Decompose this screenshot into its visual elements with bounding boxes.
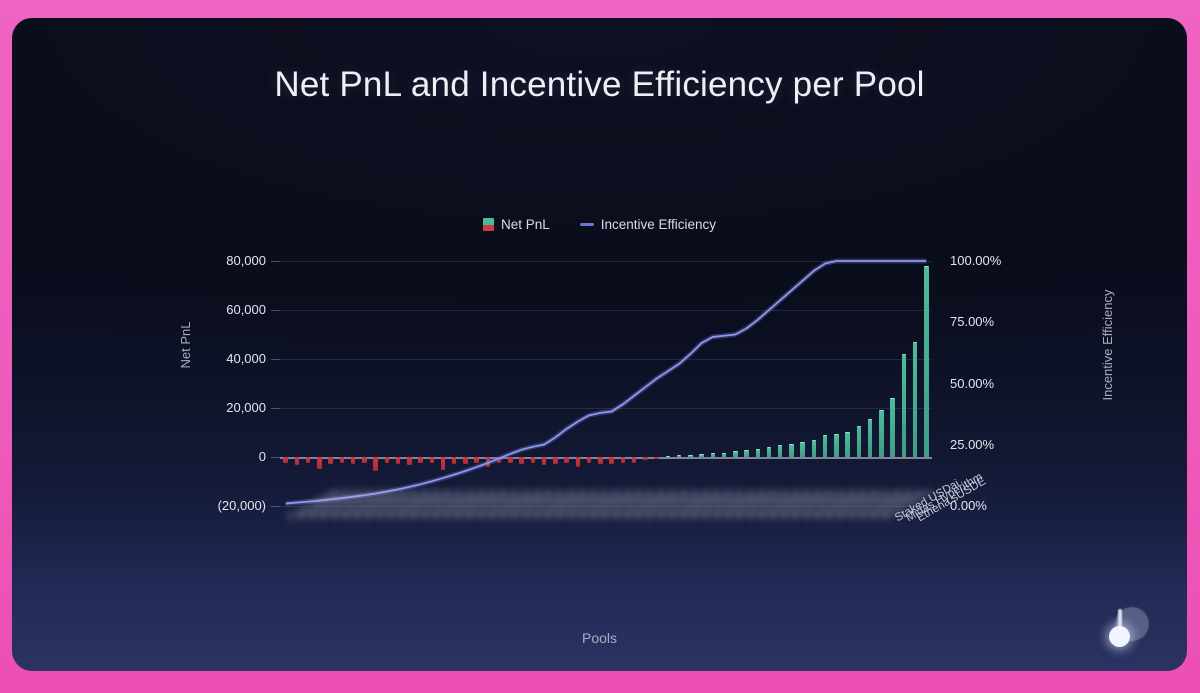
- page-title: Net PnL and Incentive Efficiency per Poo…: [12, 65, 1187, 105]
- mouse-cursor-highlight: [1105, 605, 1149, 649]
- plot-area: 80,00060,00040,00020,0000(20,000) 100.00…: [280, 261, 932, 506]
- y-axis-right-tick-label: 50.00%: [950, 377, 994, 390]
- line-series-incentive-efficiency: [280, 261, 932, 506]
- y-axis-right-tick-label: 25.00%: [950, 438, 994, 451]
- y-axis-right-tick-label: 75.00%: [950, 315, 994, 328]
- x-axis-title: Pools: [12, 630, 1187, 646]
- legend-swatch-net-pnl: [483, 218, 494, 231]
- slide-frame: Net PnL and Incentive Efficiency per Poo…: [0, 0, 1200, 693]
- legend-label-net-pnl: Net PnL: [501, 217, 550, 232]
- chart-legend: Net PnL Incentive Efficiency: [12, 217, 1187, 232]
- y-axis-left-tickmark: [271, 408, 280, 409]
- legend-label-incentive-efficiency: Incentive Efficiency: [601, 217, 716, 232]
- y-axis-left-title: Net PnL: [178, 321, 193, 368]
- y-axis-left-tick-label: 80,000: [226, 254, 266, 267]
- y-axis-right-title: Incentive Efficiency: [1100, 289, 1115, 400]
- y-axis-left-tickmark: [271, 506, 280, 507]
- y-axis-left-tick-label: 40,000: [226, 352, 266, 365]
- y-axis-left-tick-label: 20,000: [226, 401, 266, 414]
- y-axis-right-tick-label: 100.00%: [950, 254, 1001, 267]
- chart-panel: Net PnL and Incentive Efficiency per Poo…: [12, 18, 1187, 671]
- incentive-efficiency-line[interactable]: [286, 261, 927, 504]
- cursor-dot: [1109, 626, 1130, 647]
- line-glow: [286, 261, 927, 504]
- x-axis-labels: Pool NamePool NamePool NamePool NamePool…: [280, 508, 932, 603]
- legend-item-net-pnl[interactable]: Net PnL: [483, 217, 550, 232]
- y-axis-left-tickmark: [271, 310, 280, 311]
- y-axis-left-tickmark: [271, 359, 280, 360]
- y-axis-left-tick-label: 0: [259, 450, 266, 463]
- y-axis-left-tick-label: (20,000): [218, 499, 266, 512]
- legend-swatch-incentive-efficiency: [580, 223, 594, 226]
- legend-item-incentive-efficiency[interactable]: Incentive Efficiency: [580, 217, 716, 232]
- y-axis-left-tickmark: [271, 457, 280, 458]
- y-axis-left-tickmark: [271, 261, 280, 262]
- y-axis-left-tick-label: 60,000: [226, 303, 266, 316]
